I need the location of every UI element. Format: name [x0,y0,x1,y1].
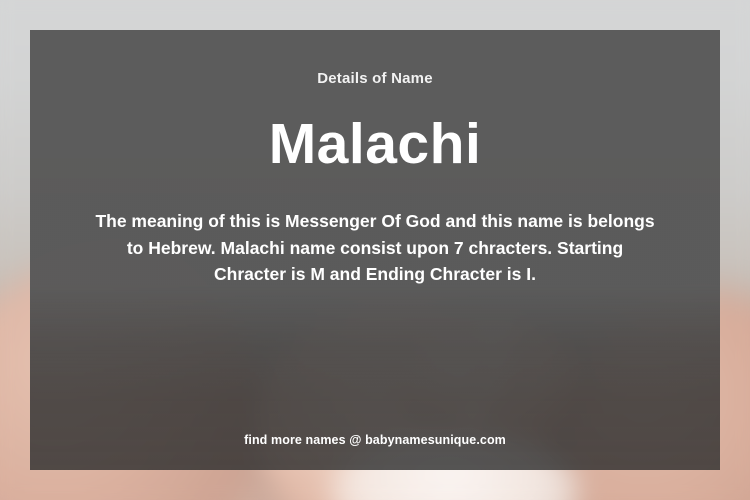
panel-content: Details of Name Malachi The meaning of t… [30,30,720,470]
name-details-panel: Details of Name Malachi The meaning of t… [30,30,720,470]
page-title: Malachi [30,115,720,175]
name-meaning-description: The meaning of this is Messenger Of God … [95,208,655,288]
name-detail-card-image: Details of Name Malachi The meaning of t… [0,0,750,500]
panel-eyebrow-label: Details of Name [30,70,720,87]
site-attribution-footer: find more names @ babynamesunique.com [30,433,720,447]
